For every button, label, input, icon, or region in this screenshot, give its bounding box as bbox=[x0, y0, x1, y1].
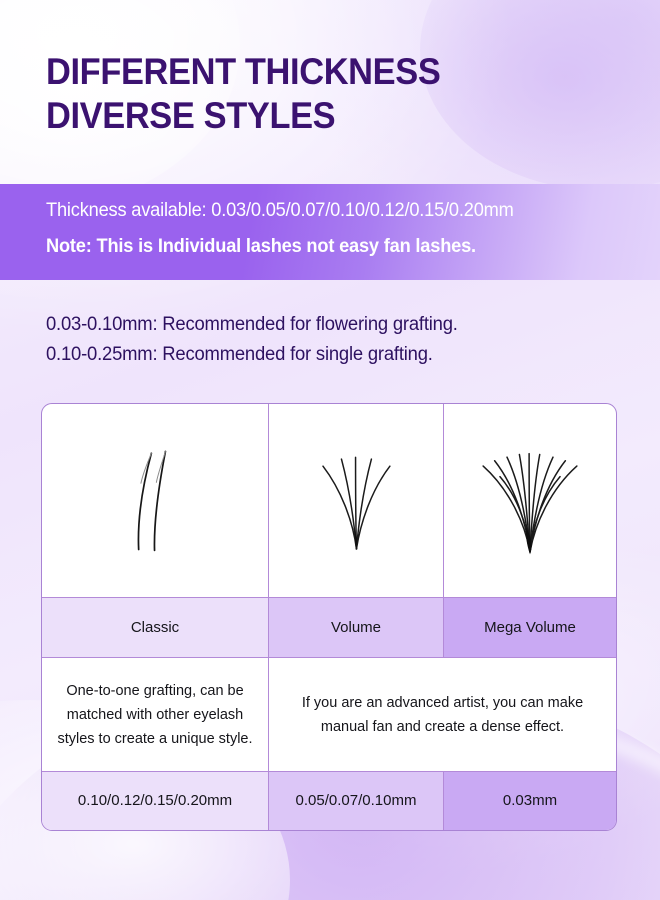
recommendation-block: 0.03-0.10mm: Recommended for flowering g… bbox=[46, 310, 470, 370]
label-classic: Classic bbox=[42, 598, 269, 658]
label-mega-volume: Mega Volume bbox=[444, 598, 616, 658]
table-row-sizes: 0.10/0.12/0.15/0.20mm 0.05/0.07/0.10mm 0… bbox=[42, 772, 616, 830]
lash-styles-table: Classic Volume Mega Volume One-to-one gr… bbox=[41, 403, 617, 831]
description-volume-mega: If you are an advanced artist, you can m… bbox=[269, 658, 616, 772]
size-classic: 0.10/0.12/0.15/0.20mm bbox=[42, 772, 269, 830]
thickness-available-text: Thickness available: 0.03/0.05/0.07/0.10… bbox=[46, 200, 514, 222]
cell-image-classic bbox=[42, 404, 269, 598]
page-title: DIFFERENT THICKNESS DIVERSE STYLES bbox=[46, 50, 585, 138]
table-row-labels: Classic Volume Mega Volume bbox=[42, 598, 616, 658]
note-text: Note: This is Individual lashes not easy… bbox=[46, 236, 476, 258]
classic-lash-icon bbox=[52, 404, 258, 597]
highlight-banner: Thickness available: 0.03/0.05/0.07/0.10… bbox=[0, 184, 660, 280]
table-row-images bbox=[42, 404, 616, 598]
size-volume: 0.05/0.07/0.10mm bbox=[269, 772, 444, 830]
description-classic: One-to-one grafting, can be matched with… bbox=[42, 658, 269, 772]
cell-image-volume bbox=[269, 404, 444, 598]
volume-fan-icon bbox=[279, 404, 433, 597]
size-mega-volume: 0.03mm bbox=[444, 772, 616, 830]
recommendation-line-flowering: 0.03-0.10mm: Recommended for flowering g… bbox=[46, 310, 458, 340]
label-volume: Volume bbox=[269, 598, 444, 658]
recommendation-line-single: 0.10-0.25mm: Recommended for single graf… bbox=[46, 340, 458, 370]
mega-volume-fan-icon bbox=[454, 404, 606, 597]
table-row-descriptions: One-to-one grafting, can be matched with… bbox=[42, 658, 616, 772]
cell-image-mega-volume bbox=[444, 404, 616, 598]
